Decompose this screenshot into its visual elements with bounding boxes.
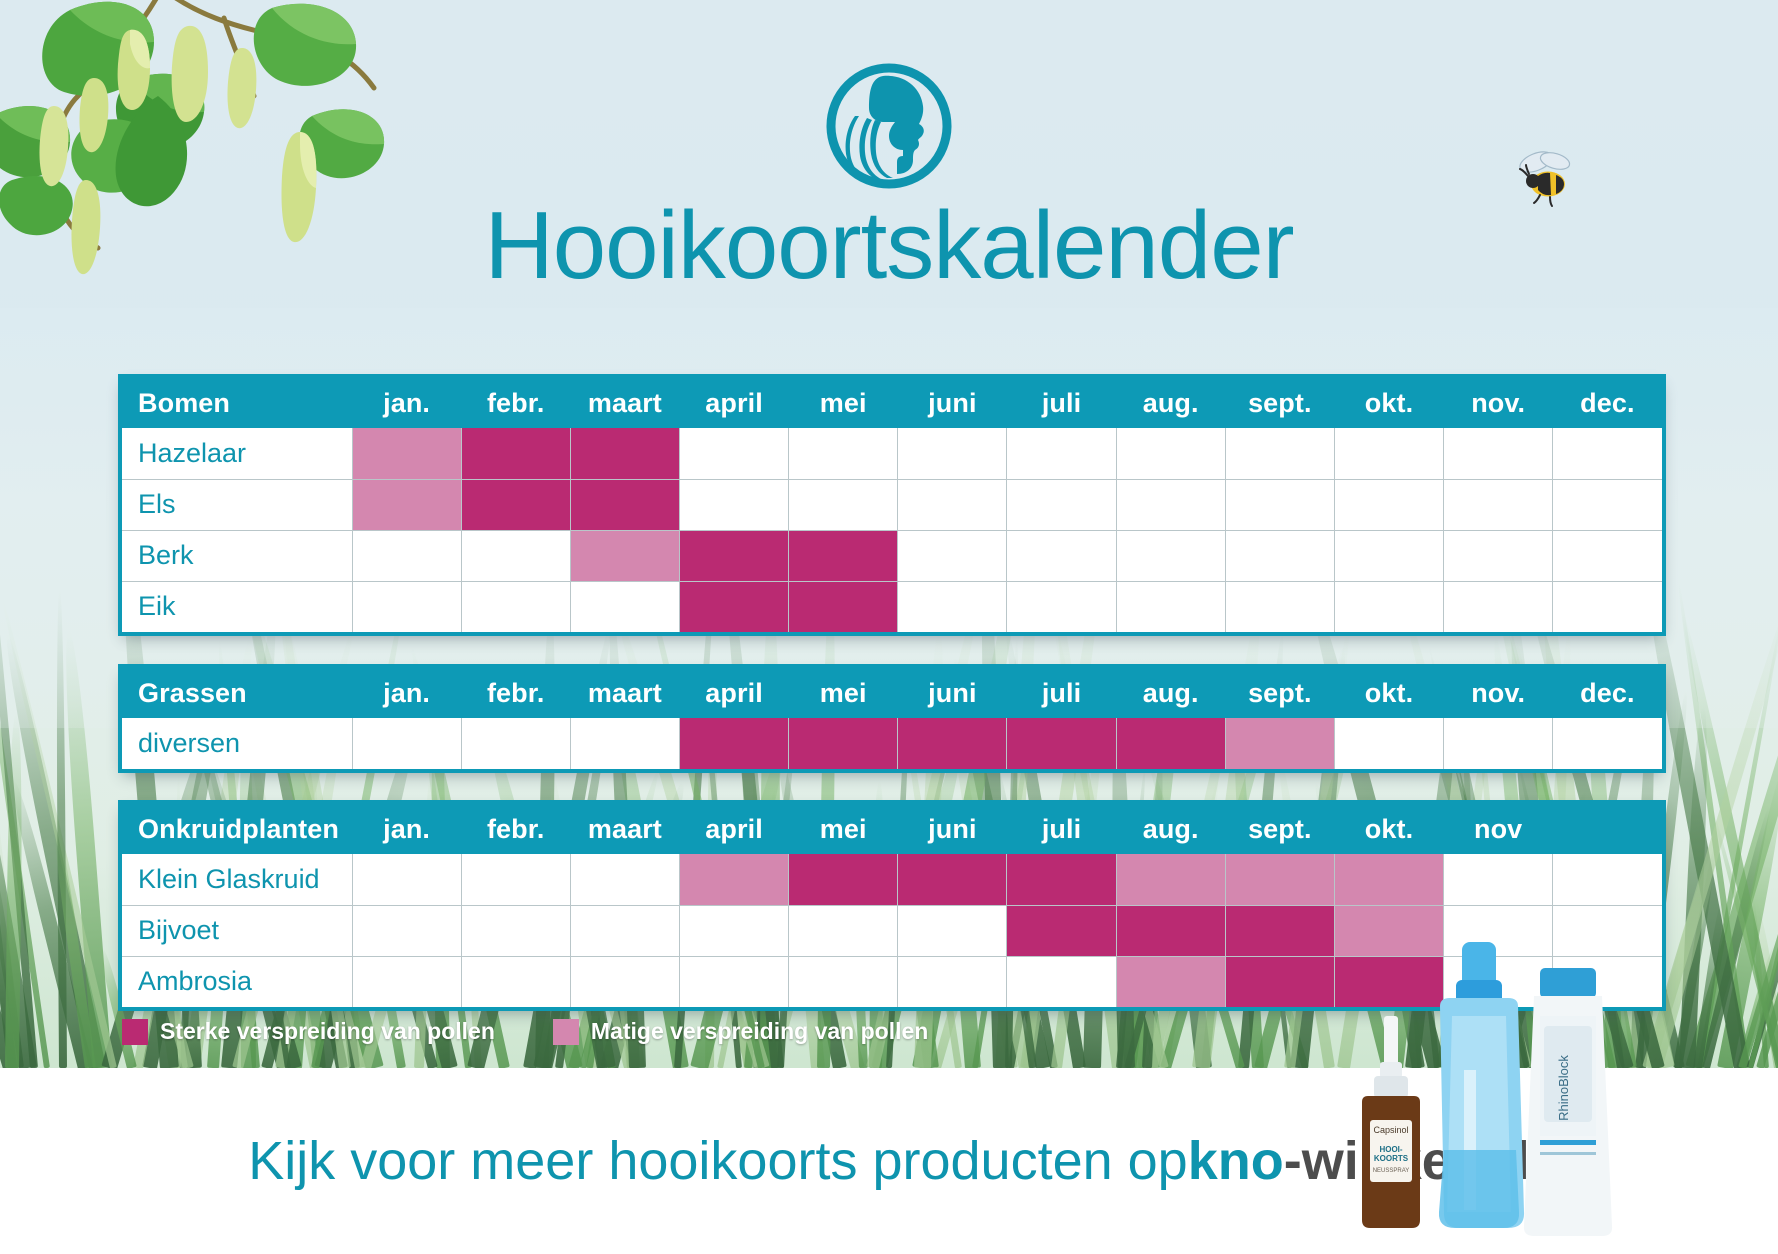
cell-1-7 — [1116, 905, 1225, 956]
table-header-row: Onkruidplantenjan.febr.maartaprilmeijuni… — [122, 804, 1662, 854]
cell-1-2 — [570, 479, 679, 530]
cell-2-10 — [1444, 956, 1553, 1007]
cell-1-4 — [789, 479, 898, 530]
section-header-grassen: Grassen — [122, 668, 352, 718]
cell-3-5 — [898, 581, 1007, 632]
table-row: Eik — [122, 581, 1662, 632]
cell-3-1 — [461, 581, 570, 632]
month-header-6: juli — [1007, 804, 1116, 854]
cell-1-8 — [1225, 905, 1334, 956]
month-header-8: sept. — [1225, 804, 1334, 854]
month-header-4: mei — [789, 378, 898, 428]
table-row: diversen — [122, 718, 1662, 769]
month-header-9: okt. — [1334, 378, 1443, 428]
month-header-8: sept. — [1225, 378, 1334, 428]
month-header-0: jan. — [352, 804, 461, 854]
cell-3-9 — [1334, 581, 1443, 632]
month-header-5: juni — [898, 378, 1007, 428]
row-label-3: Eik — [122, 581, 352, 632]
cell-0-0 — [352, 428, 461, 479]
cell-2-0 — [352, 530, 461, 581]
cell-0-7 — [1116, 428, 1225, 479]
cell-0-11 — [1553, 428, 1662, 479]
cell-1-0 — [352, 905, 461, 956]
month-header-10: nov. — [1444, 668, 1553, 718]
cell-3-0 — [352, 581, 461, 632]
cell-2-3 — [679, 530, 788, 581]
month-header-1: febr. — [461, 804, 570, 854]
cell-1-7 — [1116, 479, 1225, 530]
cell-0-3 — [679, 718, 788, 769]
row-label-1: Bijvoet — [122, 905, 352, 956]
footer-text-plain: Kijk voor meer hooikoorts producten op — [248, 1130, 1188, 1192]
month-header-2: maart — [570, 378, 679, 428]
cell-1-3 — [679, 479, 788, 530]
row-label-2: Berk — [122, 530, 352, 581]
cell-0-3 — [679, 854, 788, 905]
cell-3-4 — [789, 581, 898, 632]
cell-0-6 — [1007, 428, 1116, 479]
cell-2-7 — [1116, 956, 1225, 1007]
cell-1-1 — [461, 905, 570, 956]
calendar-table-weeds: Onkruidplantenjan.febr.maartaprilmeijuni… — [122, 804, 1662, 1007]
calendar-table-grasses: Grassenjan.febr.maartaprilmeijunijuliaug… — [122, 668, 1662, 769]
cell-2-5 — [898, 956, 1007, 1007]
table-row: Klein Glaskruid — [122, 854, 1662, 905]
cell-1-0 — [352, 479, 461, 530]
cell-2-8 — [1225, 956, 1334, 1007]
section-header-bomen: Bomen — [122, 378, 352, 428]
cell-1-8 — [1225, 479, 1334, 530]
month-header-3: april — [679, 804, 788, 854]
cell-1-11 — [1553, 905, 1662, 956]
month-header-3: april — [679, 378, 788, 428]
cell-0-2 — [570, 854, 679, 905]
table-body: HazelaarElsBerkEik — [122, 428, 1662, 632]
table-header-row: Grassenjan.febr.maartaprilmeijunijuliaug… — [122, 668, 1662, 718]
month-header-5: juni — [898, 804, 1007, 854]
table-trees: Bomenjan.febr.maartaprilmeijunijuliaug.s… — [118, 374, 1666, 636]
month-header-2: maart — [570, 804, 679, 854]
cell-0-7 — [1116, 854, 1225, 905]
cell-1-6 — [1007, 905, 1116, 956]
cell-0-1 — [461, 718, 570, 769]
cell-2-5 — [898, 530, 1007, 581]
row-label-0: Klein Glaskruid — [122, 854, 352, 905]
cell-0-3 — [679, 428, 788, 479]
cell-3-8 — [1225, 581, 1334, 632]
legend-item-mild: Matige verspreiding van pollen — [553, 1018, 928, 1045]
cell-0-4 — [789, 718, 898, 769]
cell-3-6 — [1007, 581, 1116, 632]
table-row: Els — [122, 479, 1662, 530]
cell-0-5 — [898, 428, 1007, 479]
cell-0-2 — [570, 428, 679, 479]
month-header-5: juni — [898, 668, 1007, 718]
cell-2-6 — [1007, 956, 1116, 1007]
cell-3-3 — [679, 581, 788, 632]
month-header-7: aug. — [1116, 668, 1225, 718]
cell-2-0 — [352, 956, 461, 1007]
month-header-3: april — [679, 668, 788, 718]
row-label-0: Hazelaar — [122, 428, 352, 479]
cell-1-1 — [461, 479, 570, 530]
poster-canvas: Hooikoortskalender Bomenjan.febr.maartap… — [0, 0, 1778, 1254]
cell-2-7 — [1116, 530, 1225, 581]
month-header-10: nov. — [1444, 378, 1553, 428]
table-row: Berk — [122, 530, 1662, 581]
month-header-10: nov — [1444, 804, 1553, 854]
cell-2-8 — [1225, 530, 1334, 581]
cell-0-11 — [1553, 854, 1662, 905]
cell-2-2 — [570, 956, 679, 1007]
legend-swatch-mild — [553, 1019, 579, 1045]
page-title: Hooikoortskalender — [0, 196, 1778, 297]
cell-0-8 — [1225, 854, 1334, 905]
footer-brand: kno — [1188, 1130, 1284, 1192]
cell-1-2 — [570, 905, 679, 956]
row-label-2: Ambrosia — [122, 956, 352, 1007]
cell-0-4 — [789, 428, 898, 479]
cell-0-9 — [1334, 428, 1443, 479]
cell-0-4 — [789, 854, 898, 905]
cell-1-4 — [789, 905, 898, 956]
cell-0-0 — [352, 718, 461, 769]
month-header-11: dec. — [1553, 668, 1662, 718]
table-row: Bijvoet — [122, 905, 1662, 956]
cell-1-10 — [1444, 905, 1553, 956]
cell-0-8 — [1225, 428, 1334, 479]
cell-0-2 — [570, 718, 679, 769]
cell-0-8 — [1225, 718, 1334, 769]
month-header-4: mei — [789, 668, 898, 718]
cell-0-5 — [898, 718, 1007, 769]
cell-0-10 — [1444, 854, 1553, 905]
cell-1-9 — [1334, 905, 1443, 956]
cell-1-11 — [1553, 479, 1662, 530]
month-header-11 — [1553, 804, 1662, 854]
table-row: Hazelaar — [122, 428, 1662, 479]
cell-2-2 — [570, 530, 679, 581]
cell-0-10 — [1444, 718, 1553, 769]
cell-2-9 — [1334, 956, 1443, 1007]
month-header-2: maart — [570, 668, 679, 718]
cell-3-7 — [1116, 581, 1225, 632]
table-row: Ambrosia — [122, 956, 1662, 1007]
table-grasses: Grassenjan.febr.maartaprilmeijunijuliaug… — [118, 664, 1666, 773]
month-header-11: dec. — [1553, 378, 1662, 428]
cell-2-1 — [461, 956, 570, 1007]
month-header-9: okt. — [1334, 804, 1443, 854]
cell-1-6 — [1007, 479, 1116, 530]
cell-1-5 — [898, 479, 1007, 530]
cell-3-2 — [570, 581, 679, 632]
cell-0-10 — [1444, 428, 1553, 479]
cell-1-10 — [1444, 479, 1553, 530]
month-header-6: juli — [1007, 378, 1116, 428]
cell-2-4 — [789, 956, 898, 1007]
cell-0-0 — [352, 854, 461, 905]
month-header-1: febr. — [461, 668, 570, 718]
footer-text: Kijk voor meer hooikoorts producten op k… — [0, 1068, 1778, 1254]
month-header-8: sept. — [1225, 668, 1334, 718]
cell-0-9 — [1334, 718, 1443, 769]
cell-2-11 — [1553, 530, 1662, 581]
cell-2-1 — [461, 530, 570, 581]
table-body: Klein GlaskruidBijvoetAmbrosia — [122, 854, 1662, 1007]
cell-3-10 — [1444, 581, 1553, 632]
legend-swatch-strong — [122, 1019, 148, 1045]
cell-1-3 — [679, 905, 788, 956]
cell-0-6 — [1007, 718, 1116, 769]
ent-head-profile-icon — [823, 60, 955, 192]
legend-item-strong: Sterke verspreiding van pollen — [122, 1018, 495, 1045]
legend: Sterke verspreiding van pollen Matige ve… — [122, 1018, 928, 1045]
month-header-0: jan. — [352, 378, 461, 428]
cell-2-3 — [679, 956, 788, 1007]
cell-3-11 — [1553, 581, 1662, 632]
calendar-table-trees: Bomenjan.febr.maartaprilmeijunijuliaug.s… — [122, 378, 1662, 632]
cell-0-6 — [1007, 854, 1116, 905]
cell-1-9 — [1334, 479, 1443, 530]
cell-2-9 — [1334, 530, 1443, 581]
cell-0-11 — [1553, 718, 1662, 769]
cell-2-4 — [789, 530, 898, 581]
table-header-row: Bomenjan.febr.maartaprilmeijunijuliaug.s… — [122, 378, 1662, 428]
cell-1-5 — [898, 905, 1007, 956]
month-header-1: febr. — [461, 378, 570, 428]
legend-label-strong: Sterke verspreiding van pollen — [160, 1018, 495, 1045]
month-header-7: aug. — [1116, 378, 1225, 428]
cell-0-1 — [461, 428, 570, 479]
cell-2-10 — [1444, 530, 1553, 581]
row-label-0: diversen — [122, 718, 352, 769]
section-header-onkruidplanten: Onkruidplanten — [122, 804, 352, 854]
cell-0-7 — [1116, 718, 1225, 769]
legend-label-mild: Matige verspreiding van pollen — [591, 1018, 928, 1045]
footer-domain: -winkel.nl — [1284, 1130, 1530, 1192]
month-header-9: okt. — [1334, 668, 1443, 718]
cell-2-11 — [1553, 956, 1662, 1007]
table-weeds: Onkruidplantenjan.febr.maartaprilmeijuni… — [118, 800, 1666, 1011]
table-body: diversen — [122, 718, 1662, 769]
cell-0-5 — [898, 854, 1007, 905]
month-header-4: mei — [789, 804, 898, 854]
cell-0-9 — [1334, 854, 1443, 905]
row-label-1: Els — [122, 479, 352, 530]
month-header-0: jan. — [352, 668, 461, 718]
month-header-6: juli — [1007, 668, 1116, 718]
month-header-7: aug. — [1116, 804, 1225, 854]
cell-0-1 — [461, 854, 570, 905]
cell-2-6 — [1007, 530, 1116, 581]
